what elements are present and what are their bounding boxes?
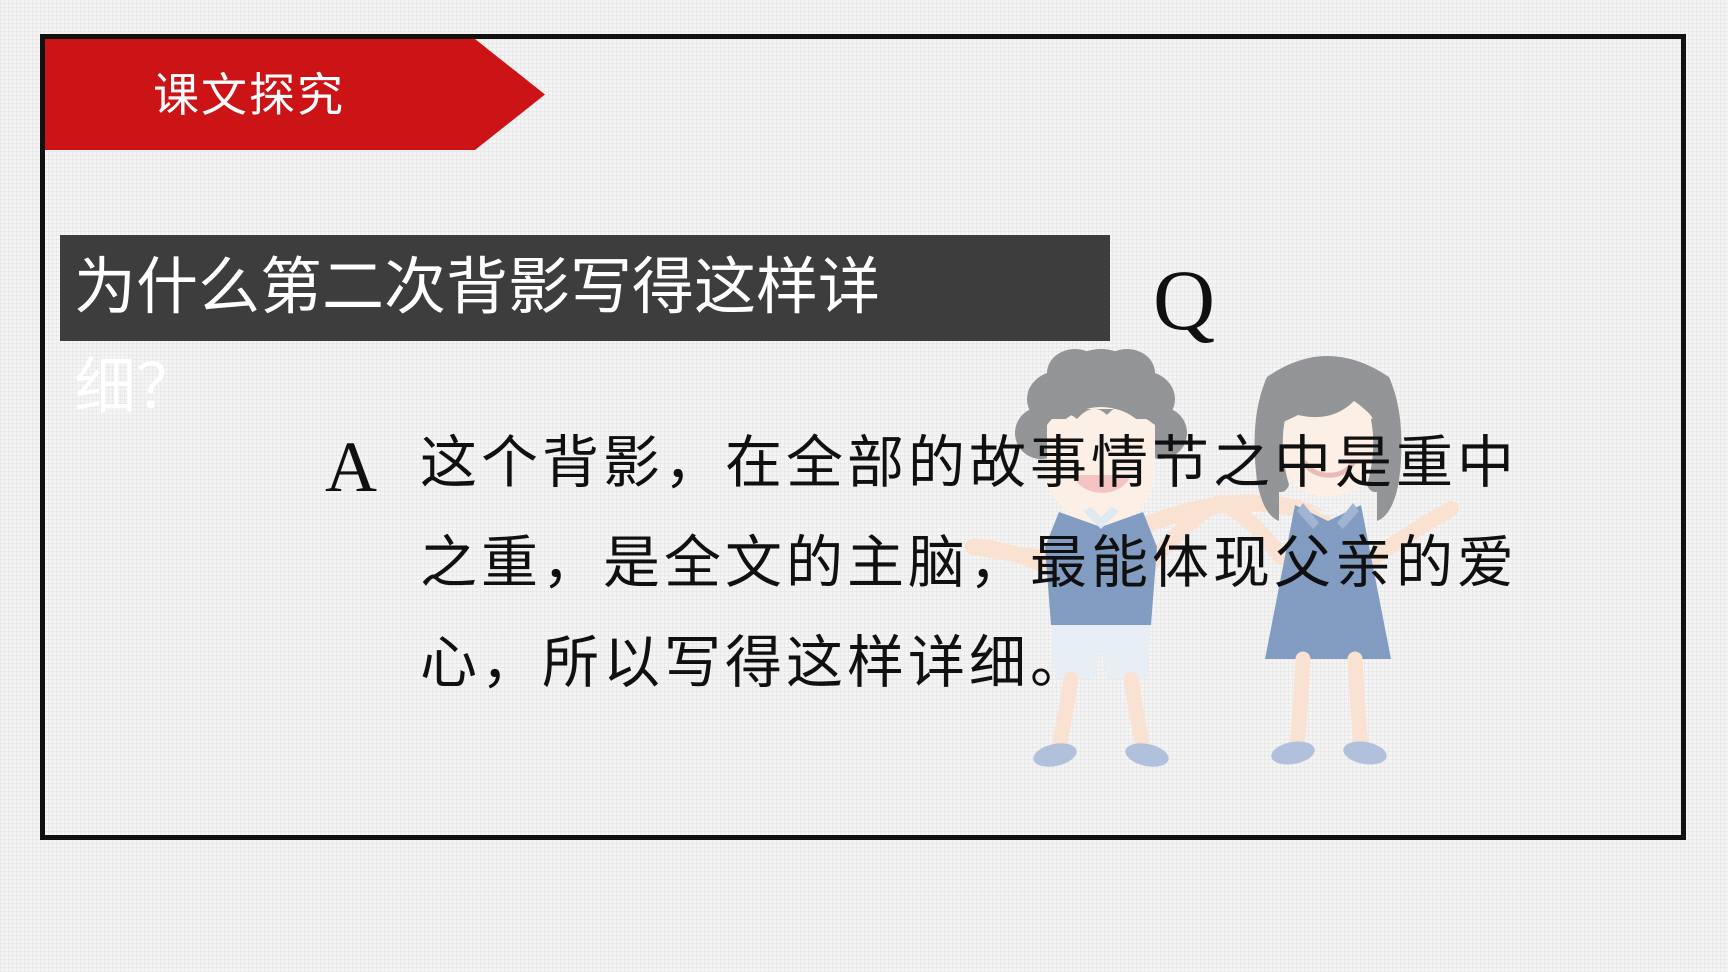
slide-root: 课文探究 为什么第二次背影写得这样详 细？ Q A 这个背影，在全部的故事情节之… <box>0 0 1728 972</box>
question-line-1: 为什么第二次背影写得这样详 <box>60 235 1110 341</box>
answer-line-2: 之重，是全文的主脑，最能体现父亲的爱 <box>420 514 1540 614</box>
section-banner: 课文探究 <box>45 39 545 150</box>
question-marker: Q <box>1153 257 1215 343</box>
section-banner-label: 课文探究 <box>153 72 345 118</box>
question-block: 为什么第二次背影写得这样详 细？ <box>60 235 1110 435</box>
answer-line-3: 心，所以写得这样详细。 <box>420 614 1540 714</box>
content-frame: 课文探究 为什么第二次背影写得这样详 细？ Q A 这个背影，在全部的故事情节之… <box>40 34 1686 840</box>
answer-line-1: 这个背影，在全部的故事情节之中是重中 <box>420 414 1540 514</box>
answer-marker: A <box>325 431 377 503</box>
answer-block: 这个背影，在全部的故事情节之中是重中 之重，是全文的主脑，最能体现父亲的爱 心，… <box>420 414 1540 714</box>
